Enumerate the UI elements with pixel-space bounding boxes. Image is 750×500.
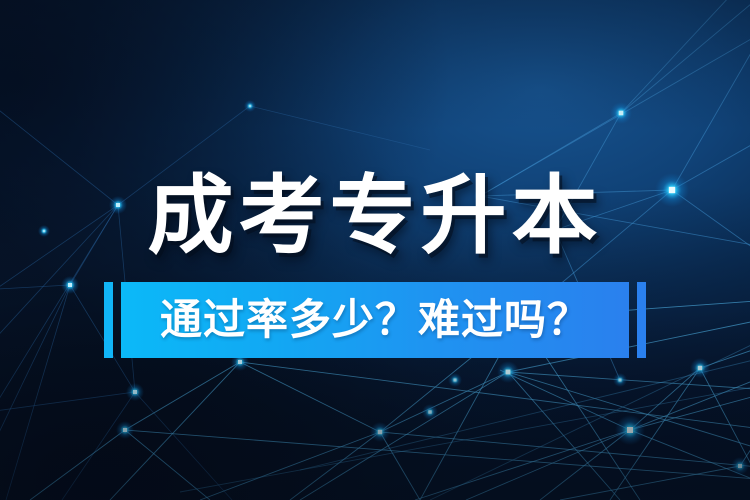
headline-title: 成考专升本 [148,168,603,264]
promo-banner: 成考专升本 通过率多少？难过吗？ [0,0,750,500]
left-accent-gap [113,282,121,358]
headline-container: 成考专升本 [0,168,750,264]
subtitle-bar: 通过率多少？难过吗？ [121,282,629,358]
right-accent-bar [637,282,646,358]
subtitle-bar-container: 通过率多少？难过吗？ [104,282,646,358]
left-accent-bar [104,282,113,358]
right-accent-gap [629,282,637,358]
subtitle-text: 通过率多少？难过吗？ [160,296,590,344]
